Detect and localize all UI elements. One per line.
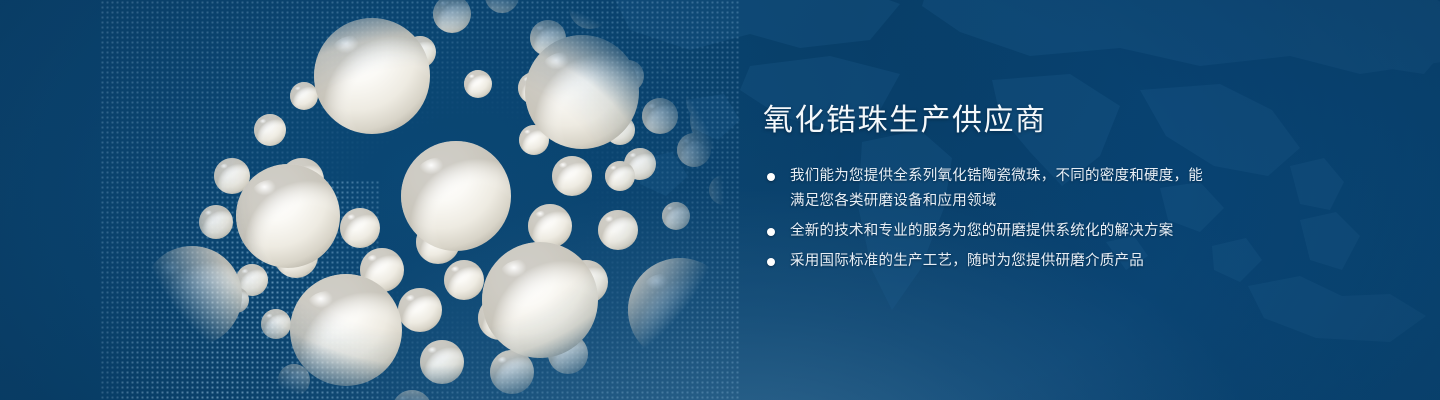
bullet-text: 全新的技术和专业的服务为您的研磨提供系统化的解决方案 [790, 223, 1174, 239]
hero-banner: 氧化锆珠生产供应商 我们能为您提供全系列氧化锆陶瓷微珠，不同的密度和硬度，能满足… [0, 0, 1440, 400]
banner-bullet-list: 我们能为您提供全系列氧化锆陶瓷微珠，不同的密度和硬度，能满足您各类研磨设备和应用… [763, 164, 1203, 274]
list-item: 采用国际标准的生产工艺，随时为您提供研磨介质产品 [763, 249, 1203, 274]
banner-headline: 氧化锆珠生产供应商 [763, 104, 1203, 138]
bullet-dot-icon [767, 228, 775, 236]
bullet-dot-icon [767, 173, 775, 181]
banner-copy: 氧化锆珠生产供应商 我们能为您提供全系列氧化锆陶瓷微珠，不同的密度和硬度，能满足… [763, 104, 1203, 274]
list-item: 全新的技术和专业的服务为您的研磨提供系统化的解决方案 [763, 219, 1203, 244]
list-item: 我们能为您提供全系列氧化锆陶瓷微珠，不同的密度和硬度，能满足您各类研磨设备和应用… [763, 164, 1203, 214]
bullet-text: 采用国际标准的生产工艺，随时为您提供研磨介质产品 [790, 253, 1144, 269]
background-gradient [0, 0, 1440, 400]
bullet-text: 我们能为您提供全系列氧化锆陶瓷微珠，不同的密度和硬度，能满足您各类研磨设备和应用… [790, 168, 1203, 209]
bullet-dot-icon [767, 258, 775, 266]
